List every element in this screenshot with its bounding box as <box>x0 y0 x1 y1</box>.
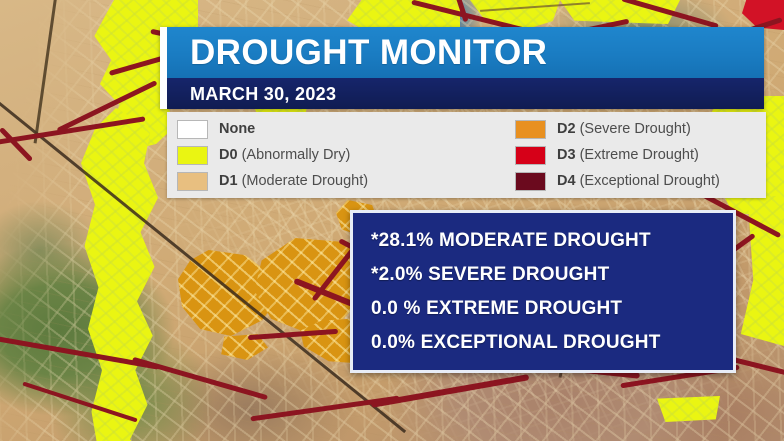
legend-item-d2: D2 (Severe Drought) <box>515 117 765 141</box>
legend-desc: (Exceptional Drought) <box>576 173 720 189</box>
stat-extreme-drought: 0.0 % EXTREME DROUGHT <box>371 299 733 318</box>
d3-swatch <box>515 146 546 165</box>
legend-item-d0: D0 (Abnormally Dry) <box>177 143 515 167</box>
legend-code: None <box>219 121 255 137</box>
legend-panel: None D0 (Abnormally Dry) D1 (Moderate Dr… <box>167 112 766 198</box>
d2-swatch <box>515 120 546 139</box>
stat-exceptional-drought: 0.0% EXCEPTIONAL DROUGHT <box>371 333 733 352</box>
legend-desc: (Abnormally Dry) <box>238 147 351 163</box>
legend-column-right: D2 (Severe Drought) D3 (Extreme Drought)… <box>515 117 765 193</box>
date-bar: MARCH 30, 2023 <box>167 78 764 109</box>
legend-item-label: D1 (Moderate Drought) <box>219 174 368 189</box>
date-label: MARCH 30, 2023 <box>167 85 336 103</box>
d1-swatch <box>177 172 208 191</box>
legend-item-none: None <box>177 117 515 141</box>
legend-item-d1: D1 (Moderate Drought) <box>177 169 515 193</box>
legend-item-d4: D4 (Exceptional Drought) <box>515 169 765 193</box>
stat-moderate-drought: *28.1% MODERATE DROUGHT <box>371 231 733 250</box>
legend-desc: (Extreme Drought) <box>576 147 699 163</box>
d0-swatch <box>177 146 208 165</box>
d4-swatch <box>515 172 546 191</box>
legend-item-label: D2 (Severe Drought) <box>557 122 691 137</box>
legend-code: D3 <box>557 147 576 163</box>
page-title: DROUGHT MONITOR <box>167 35 547 70</box>
title-bar: DROUGHT MONITOR <box>167 27 764 78</box>
legend-code: D4 <box>557 173 576 189</box>
legend-code: D1 <box>219 173 238 189</box>
stat-severe-drought: *2.0% SEVERE DROUGHT <box>371 265 733 284</box>
legend-item-label: None <box>219 122 255 137</box>
legend-item-label: D4 (Exceptional Drought) <box>557 174 720 189</box>
legend-code: D2 <box>557 121 576 137</box>
legend-item-label: D0 (Abnormally Dry) <box>219 148 350 163</box>
legend-desc: (Severe Drought) <box>576 121 691 137</box>
legend-column-left: None D0 (Abnormally Dry) D1 (Moderate Dr… <box>177 117 515 193</box>
none-swatch <box>177 120 208 139</box>
legend-item-label: D3 (Extreme Drought) <box>557 148 699 163</box>
legend-code: D0 <box>219 147 238 163</box>
legend-desc: (Moderate Drought) <box>238 173 369 189</box>
drought-monitor-graphic: DROUGHT MONITOR MARCH 30, 2023 None D0 (… <box>0 0 784 441</box>
drought-statistics-panel: *28.1% MODERATE DROUGHT *2.0% SEVERE DRO… <box>350 210 736 373</box>
title-banner: DROUGHT MONITOR MARCH 30, 2023 <box>160 27 764 109</box>
legend-item-d3: D3 (Extreme Drought) <box>515 143 765 167</box>
